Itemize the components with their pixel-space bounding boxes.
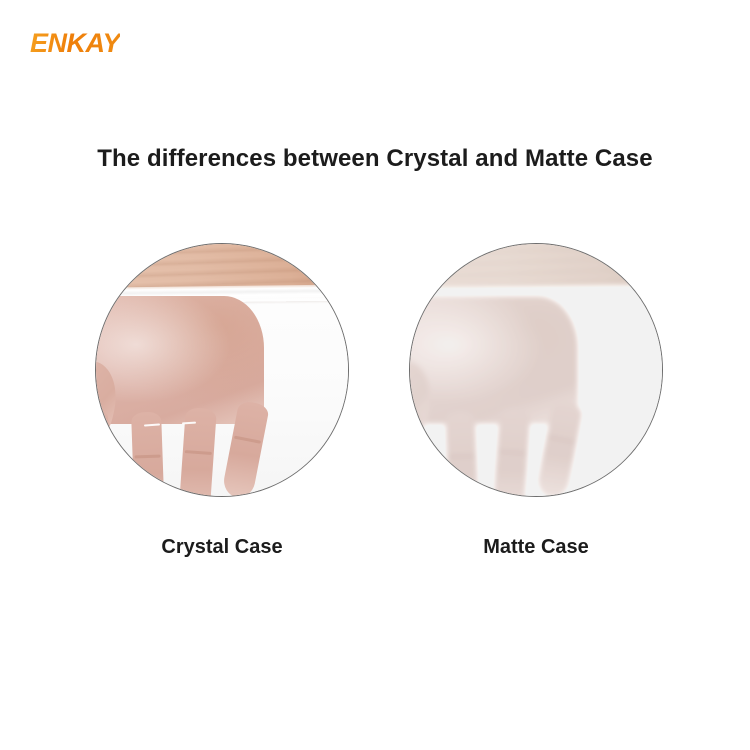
page-title: The differences between Crystal and Matt… — [0, 145, 750, 173]
matte-case-photo — [409, 243, 663, 497]
crystal-scene — [95, 243, 349, 497]
comparison-item-crystal — [95, 243, 349, 497]
comparison-item-matte — [409, 243, 663, 497]
caption-matte-case: Matte Case — [409, 536, 663, 559]
finger-shape — [445, 412, 479, 497]
finger-shape — [178, 407, 217, 497]
brand-logo: ENKAY — [30, 28, 120, 59]
crystal-case-photo — [95, 243, 349, 497]
matte-scene — [409, 243, 663, 497]
comparison-row — [0, 243, 750, 503]
finger-shape — [492, 407, 531, 497]
caption-crystal-case: Crystal Case — [95, 536, 349, 559]
